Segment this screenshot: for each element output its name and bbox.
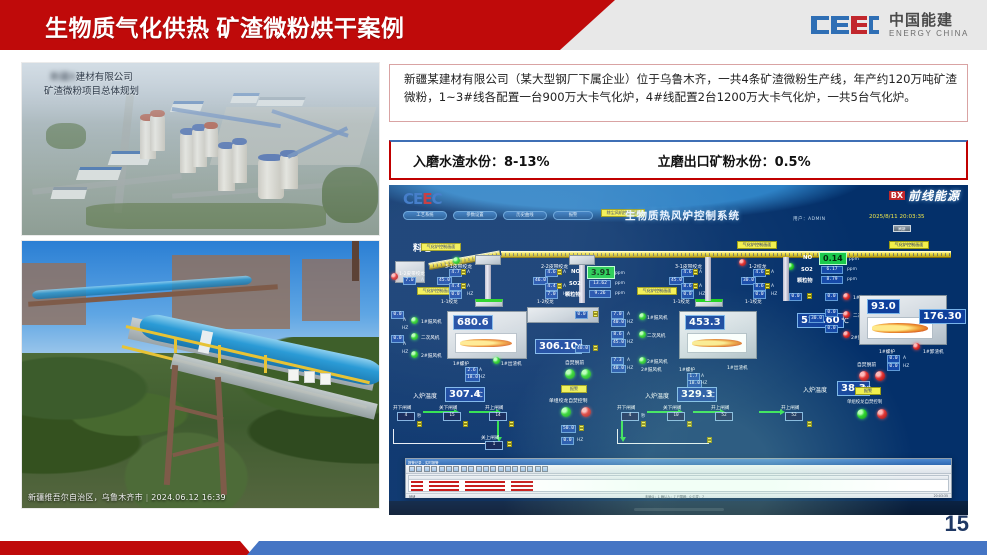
value-screw-2-2-hz: 7.0 [545,291,558,299]
step-label-3: 开上闸阀 [485,405,503,411]
scada-nav-params[interactable]: 参数设置 [453,211,497,220]
step-value-7[interactable]: 52 [715,412,733,421]
slide-header: 生物质气化供热 矿渣微粉烘干案例 中国能建 ENERGY CHINA [0,0,987,50]
stepper-3[interactable] [417,421,422,427]
alarm-row-3-level [511,489,533,491]
slide-footer [0,541,987,555]
emissions-right-so2-label: SO2 [801,267,813,273]
stat-inlet-moisture: 入磨水渣水份：8-13% [413,151,550,170]
unit-hz-2: HZ [402,326,408,331]
scada-brand-logo: CEEC [403,190,442,208]
step-value-6[interactable]: 10 [667,412,685,421]
toolbar-prev-icon[interactable] [461,466,467,472]
unit-hz-10: HZ [699,292,705,297]
stepper-6[interactable] [507,441,512,447]
value-protect-hz: 18.0 [465,374,480,382]
value-r5: 45.0 [611,339,626,347]
toolbar-open-icon[interactable] [416,466,422,472]
unit-hz-9: HZ [627,366,633,371]
toolbar-info-icon[interactable] [409,466,415,472]
alarm-row-1-id [411,481,423,483]
lamp-fan-6 [639,357,646,364]
unit-a-17: A [903,356,906,361]
screw-auto-label: 单组绞龙自焚控制 [549,397,587,404]
toolbar-save-icon[interactable] [424,466,430,472]
page-title: 生物质气化供热 矿渣微粉烘干案例 [45,9,404,43]
stepper-15[interactable] [687,421,692,427]
plan-overlay-title: 新疆X建材有限公司 矿渣微粉项目总体规划 [44,71,139,99]
lamp-fan-5 [639,331,646,338]
emissions-left-so2-value: 13.62 [589,280,611,288]
toolbar-lock-icon[interactable] [439,466,445,472]
alarm-row-2-text [465,485,505,487]
alarm-window-title: 报警记录 - 实时报警 [408,460,439,465]
inlet-temp-unit-1: ℃ [475,391,483,399]
scada-datetime: 2025/8/11 20:03:35 [869,214,925,220]
step-value-4[interactable]: 1 [485,441,503,450]
lamp-fan-4 [639,313,646,320]
screw-auto-lamp-off[interactable] [581,407,591,417]
value-r2: 7.0 [611,311,624,319]
value-r1: 0.0 [575,311,588,319]
lamp-fan-2 [411,333,418,340]
photo-caption-separator: | [146,493,149,502]
step-value-3[interactable]: 14 [489,412,507,421]
step-value-8[interactable]: 52 [785,412,803,421]
lamp-r4-discharger [913,343,920,350]
flow-arrow-6 [621,421,623,437]
lamp-right-fault [739,259,746,266]
scada-process-diagram: 料仓 气化炉控制画面 气化炉控制画面 气化炉控制画面 1-2皮带绞龙 7.0 A… [389,239,968,451]
left-chute [475,255,501,265]
fan-label-5: 1#出渣机 [501,361,522,367]
scada-refresh-button[interactable]: 刷新 [893,225,911,232]
toolbar-filter-icon[interactable] [446,466,452,472]
unit-hz-3: HZ [402,350,408,355]
stepper-14[interactable] [641,421,646,427]
scada-button-gasifier-screen-3[interactable]: 气化炉控制画面 [889,241,929,249]
emissions-left-no-value: 3.91 [587,266,615,279]
furnace-1-temp: 680.6 [453,315,493,330]
unit-a-1: A [421,278,424,283]
auto-lamp-3b[interactable] [875,371,885,381]
alarm-row-1-level [511,481,533,483]
return-line-2 [617,443,709,444]
emissions-right-dust-unit: ppm [847,277,857,282]
stepper-10[interactable] [593,311,598,317]
photo-rail-post [174,337,177,353]
inlet-temp-label-1: 入炉温度 [413,391,437,400]
toolbar-ack-icon[interactable] [468,466,474,472]
furnace-2-flame [687,333,747,353]
toolbar-show-icon[interactable] [520,466,526,472]
monitor-bezel [389,501,968,515]
value-r8: 40.0 [611,365,626,373]
auto-lamp-3a[interactable] [859,371,869,381]
emissions-left-dust-unit: ppm [615,291,625,296]
screw-auto-hz: 0.0 [561,437,574,445]
plan-overlay-subtitle: 矿渣微粉项目总体规划 [44,86,139,97]
furnace-3-temp-unit: ℃ [841,317,849,325]
unit-a-4: A [403,318,406,323]
description-callout: 新疆某建材有限公司（某大型钢厂下属企业）位于乌鲁木齐，一共4条矿渣微粉生产线，年… [389,64,968,122]
value-screw-r-hz: 0.0 [681,291,694,299]
unit-hz-1: HZ [467,292,473,297]
unit-a-10: A [627,332,630,337]
lamp-fan-1 [411,317,418,324]
return-line-1 [393,443,485,444]
logo-text-cn: 中国能建 [889,13,969,28]
value-r4-x2: 0.0 [825,293,838,301]
stats-strip: 入磨水渣水份：8-13% 立磨出口矿粉水份：0.5% [389,140,968,180]
fan-label-9: 2#鼓风机 [641,367,662,373]
inlet-temp-unit-2: ℃ [707,391,715,399]
stepper-16[interactable] [707,437,712,443]
stepper-9[interactable] [579,425,584,431]
scada-button-gasifier-screen-5[interactable]: 气化炉控制画面 [637,287,677,295]
brand-logo: 中国能建 ENERGY CHINA [809,8,969,42]
unit-a-16: A [771,284,774,289]
inlet-temp-label-3: 入炉温度 [803,385,827,394]
step-label-1: 开下闸阀 [393,405,411,411]
toolbar-print-icon[interactable] [498,466,504,472]
scada-button-reset-1[interactable]: 报警 [561,385,587,393]
scada-screen-photo: CEEC 工艺系统 参数设置 历史曲线 报警 除尘风机控制画面 生物质热风炉控制… [389,185,968,515]
step-label-5: 开下闸阀 [617,405,635,411]
alarm-row-2-id [411,485,423,487]
photo-safety-sign [320,373,331,385]
emissions-left-so2-label: SO2 [569,281,581,287]
unit-a-9: A [627,312,630,317]
alarm-status-left: 就绪 [409,494,415,499]
logo-text-en: ENERGY CHINA [889,30,969,38]
value-r3: 40.0 [611,319,626,327]
stepper-12[interactable] [693,269,698,275]
unit-a-7: A [563,270,566,275]
toolbar-hide-icon[interactable] [512,466,518,472]
inlet-temp-label-2: 入炉温度 [645,391,669,400]
toolbar-settings-icon[interactable] [527,466,533,472]
lamp-fan-3 [411,351,418,358]
unit-hz-4: HZ [479,375,485,380]
fan-label-11: 1#出渣机 [727,365,748,371]
value-r4-x1: 0.0 [789,293,802,301]
alarm-table[interactable] [408,475,949,492]
toolbar-refresh-icon[interactable] [542,466,548,472]
alarm-row-1-date [429,481,459,483]
alarm-row-2-date [429,485,459,487]
value-r4-p1: 0.0 [887,355,900,363]
emissions-right-no-value: 0.14 [819,252,847,265]
scada-nav-trends[interactable]: 历史曲线 [503,211,547,220]
stepper-18[interactable] [765,283,770,289]
screw-label-1-2b: 1-2绞龙 [537,299,554,305]
screw-auto-setpoint: 50.0 [561,425,576,433]
step-label-7: 开上闸阀 [711,405,729,411]
step-unit-1: 秒 [417,413,421,419]
lamp-r4-fan3 [843,331,850,338]
return-line-1-riser [393,429,394,443]
toolbar-next-icon[interactable] [453,466,459,472]
auto-label-1: 自焚脱前 [565,359,584,366]
value-r4-x3: 0.0 [825,309,838,317]
screw-auto-lamp-on-2[interactable] [857,409,867,419]
screw-label-1-1c: 1-1绞龙 [673,299,690,305]
furnace-1-flame [455,333,517,353]
photo-caption-location: 新疆维吾尔自治区，乌鲁木齐市 [28,493,143,502]
alarm-window-toolbar[interactable] [406,465,951,474]
unit-a-12: A [699,270,702,275]
toolbar-ack-all-icon[interactable] [476,466,482,472]
unit-hz-8: HZ [627,340,633,345]
stat-outlet-moisture: 立磨出口矿粉水份：0.5% [658,151,811,170]
stepper-19[interactable] [807,293,812,299]
unit-hz-6: HZ [577,438,583,443]
alarm-row-3-id [411,489,423,491]
alarm-status-time: 20:03:35 [934,494,948,498]
value-r4: 8.6 [611,331,624,339]
furnace-2-temp: 453.3 [685,315,725,330]
value-r7: 7.3 [611,357,624,365]
stepper-20[interactable] [807,421,812,427]
plan-overlay-company-blurred: 新疆X [50,71,76,85]
photo-safety-sign [288,369,299,381]
center-duct [527,307,599,323]
fan-label-8: 2#鼓风机 [647,359,668,365]
photo-stack [352,241,359,281]
emissions-right-dust-value: 8.79 [821,276,843,284]
unit-a-8: A [563,284,566,289]
flow-arrow-7 [759,411,781,413]
screw-label-1-1d: 1-1绞龙 [745,299,762,305]
unit-a-5: A [403,342,406,347]
return-line-2-riser [617,429,618,443]
alarm-row-2-level [511,485,533,487]
table-row[interactable] [409,488,948,492]
value-r4-x5: 30.0 [809,315,824,323]
step-label-2: 关下闸阀 [439,405,457,411]
step-value-5[interactable]: 4 [621,412,639,421]
lamp-r4-fan2 [843,311,850,318]
lamp-r4-fan1 [843,293,850,300]
furnace-5-temp: 176.30 [919,309,966,324]
emissions-right-dust-label: 颗粒物 [797,277,813,284]
unit-a-11: A [627,358,630,363]
step-value-1[interactable]: 4 [397,412,415,421]
value-r4-x4: 0.0 [825,325,838,333]
emissions-left-so2-unit: ppm [615,281,625,286]
value-screw-3-1-hz: 0.0 [449,291,462,299]
vendor-badge: BX [889,191,905,200]
fan-label-7: 二次风机 [647,333,665,339]
alarm-row-3-text [465,489,505,491]
toolbar-list-icon[interactable] [483,466,489,472]
scada-nav-process[interactable]: 工艺系统 [403,211,447,220]
scada-current-user: 用户：ADMIN [793,216,825,222]
stepper-8[interactable] [557,283,562,289]
unit-hz-13: HZ [903,364,909,369]
alarm-log-window[interactable]: 报警记录 - 实时报警 [405,458,952,498]
center-chute [569,255,595,265]
screw-auto-lamp-off-2[interactable] [877,409,887,419]
unit-a-3: A [467,284,470,289]
stepper-7[interactable] [557,269,562,275]
step-label-6: 关下闸阀 [663,405,681,411]
vendor-name: 前线能源 [908,187,960,204]
scada-button-reset-3[interactable]: 报警 [855,387,881,395]
screw-auto-label-2: 单组绞龙自焚控制 [847,399,882,405]
photo-rail-post [218,345,221,363]
left-valve [475,299,503,307]
scada-brand-logo-accent: E [422,190,431,208]
emissions-right-so2-value: 6.17 [821,266,843,274]
emissions-left-no-label: NO [571,269,580,275]
downcomer-right [705,257,711,301]
value-left-current: 7.0 [403,277,416,285]
stepper-13[interactable] [693,283,698,289]
toolbar-copy-icon[interactable] [431,466,437,472]
fan-label-6: 1#鼓风机 [647,315,668,321]
stepper-11[interactable] [593,345,598,351]
scada-vendor-logo: BX 前线能源 [889,187,960,204]
scada-button-gasifier-screen-1[interactable]: 气化炉控制画面 [421,243,461,251]
photo-safety-sign [304,371,315,383]
stepper-5[interactable] [509,421,514,427]
emissions-right-no-unit: ppm [849,257,859,262]
value-r6: 40.0 [575,345,590,353]
unit-a-14: A [701,374,704,379]
photo-conveyor-site: 新疆维吾尔自治区，乌鲁木齐市 | 2024.06.12 16:39 [22,241,379,508]
value-r4-hz: 0.0 [753,291,766,299]
ceec-logo-icon [809,12,881,38]
fan-label-1: 1#鼓风机 [421,319,442,325]
auto-label-3: 自焚脱前 [857,361,876,368]
fan-label-3: 2#鼓风机 [421,353,442,359]
alarm-row-1-text [465,481,505,483]
alarm-status-counts: 未确认：1 确认人：7 已屏蔽：0 引发：7 [645,494,704,499]
stepper-17[interactable] [765,269,770,275]
description-text: 新疆某建材有限公司（某大型钢厂下属企业）位于乌鲁木齐，一共4条矿渣微粉生产线，年… [404,71,957,106]
unit-a-15: A [771,270,774,275]
unit-a-13: A [699,284,702,289]
footer-red-band [0,541,252,555]
unit-a-2: A [467,270,470,275]
emissions-right-no-label: NO [803,255,812,261]
lamp-discharger-1 [493,357,500,364]
emissions-left-dust-value: 9.26 [589,290,611,298]
screw-auto-lamp-on[interactable] [561,407,571,417]
step-unit-2: 秒 [641,413,645,419]
toolbar-sort-icon[interactable] [505,466,511,472]
photo-caption: 新疆维吾尔自治区，乌鲁木齐市 | 2024.06.12 16:39 [28,492,226,503]
unit-hz-7: HZ [627,320,633,325]
scada-button-gasifier-screen-2[interactable]: 气化炉控制画面 [737,241,777,249]
footer-blue-band [247,541,987,555]
alarm-window-statusbar: 就绪 未确认：1 确认人：7 已屏蔽：0 引发：7 20:03:35 [406,493,951,498]
emissions-right-so2-unit: ppm [847,267,857,272]
toolbar-export-icon[interactable] [490,466,496,472]
stepper-1[interactable] [461,269,466,275]
stepper-2[interactable] [461,283,466,289]
unit-a-6: A [479,368,482,373]
photo-masterplan-rendering: 新疆X建材有限公司 矿渣微粉项目总体规划 [22,63,379,235]
scada-title: 生物质热风炉控制系统 [625,208,740,223]
lamp-left-fault [391,273,398,280]
unit-hz-11: HZ [701,381,707,386]
step-value-2[interactable]: 15 [443,412,461,421]
auto-lamp-1b[interactable] [581,369,591,379]
plan-overlay-company-rest: 建材有限公司 [76,72,133,83]
furnace-4-temp: 93.0 [867,299,900,314]
photo-rail-post [264,355,267,373]
unit-hz-12: HZ [771,292,777,297]
auto-lamp-1a[interactable] [565,369,575,379]
scada-nav-alarms[interactable]: 报警 [553,211,593,220]
stepper-4[interactable] [463,421,468,427]
emissions-left-dust-label: 颗粒物 [565,291,581,298]
value-r4-p2: 0.0 [887,363,900,371]
alarm-row-3-date [429,489,459,491]
fan-label-2: 二次风机 [421,335,439,341]
screw-label-1-1: 1-1绞龙 [441,299,458,305]
toolbar-help-icon[interactable] [535,466,541,472]
fan-label-16: 1#卸渣机 [923,349,944,355]
photo-caption-datetime: 2024.06.12 16:39 [151,493,226,502]
emissions-left-no-unit: ppm [615,271,625,276]
